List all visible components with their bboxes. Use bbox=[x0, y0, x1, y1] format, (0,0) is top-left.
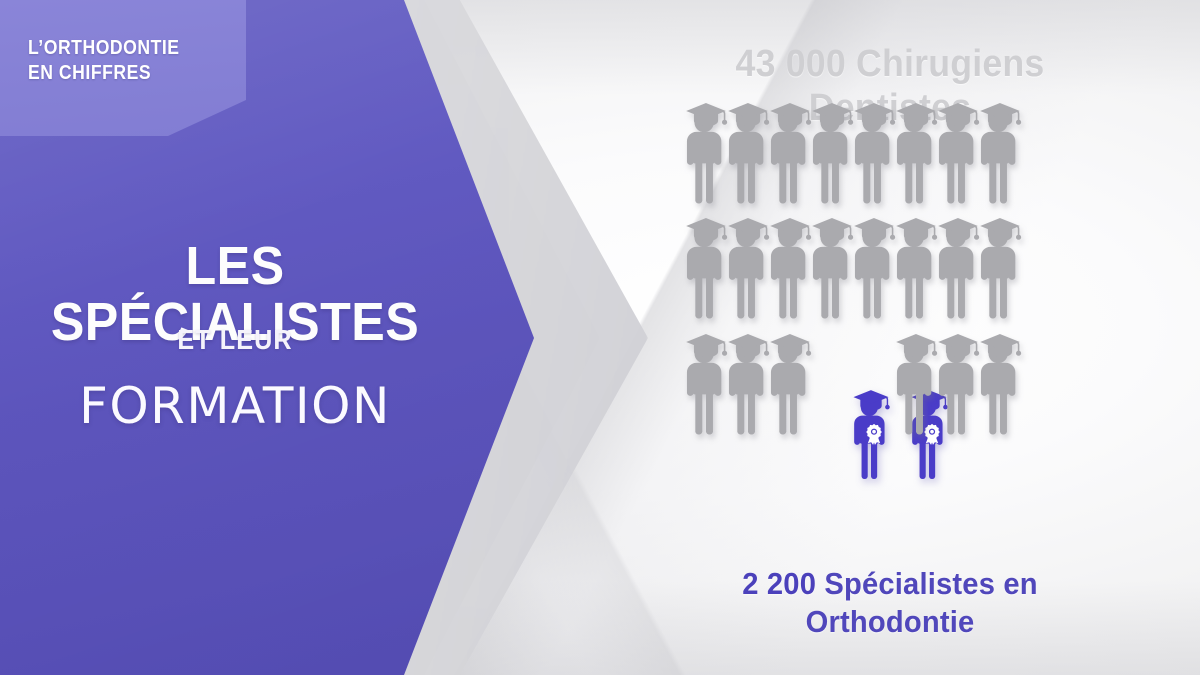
pictogram-bottom-label: 2 200 Spécialistes en Orthodontie bbox=[655, 565, 1125, 641]
pictogram-figure-specialist bbox=[848, 387, 894, 487]
series-banner-line1: L’ORTHODONTIE bbox=[28, 36, 213, 61]
pictogram-figure-dentist bbox=[974, 100, 1026, 212]
page-subtitle-connector: ET LEUR bbox=[24, 325, 447, 355]
pictogram-figure-dentist bbox=[974, 215, 1026, 327]
series-banner-line2: EN CHIFFRES bbox=[28, 61, 213, 86]
series-banner-text: L’ORTHODONTIE EN CHIFFRES bbox=[28, 36, 213, 86]
page-subtitle: FORMATION bbox=[0, 378, 470, 434]
pictogram-figure-dentist bbox=[764, 331, 816, 443]
pictogram-chart bbox=[680, 100, 1100, 570]
pictogram-figure-dentist bbox=[974, 331, 1026, 443]
slide-canvas: L’ORTHODONTIE EN CHIFFRES LES SPÉCIALIST… bbox=[0, 0, 1200, 675]
pictogram-bottom-label-rest: Spécialistes en Orthodontie bbox=[806, 566, 1038, 639]
pictogram-bottom-label-number: 2 200 bbox=[742, 566, 816, 601]
